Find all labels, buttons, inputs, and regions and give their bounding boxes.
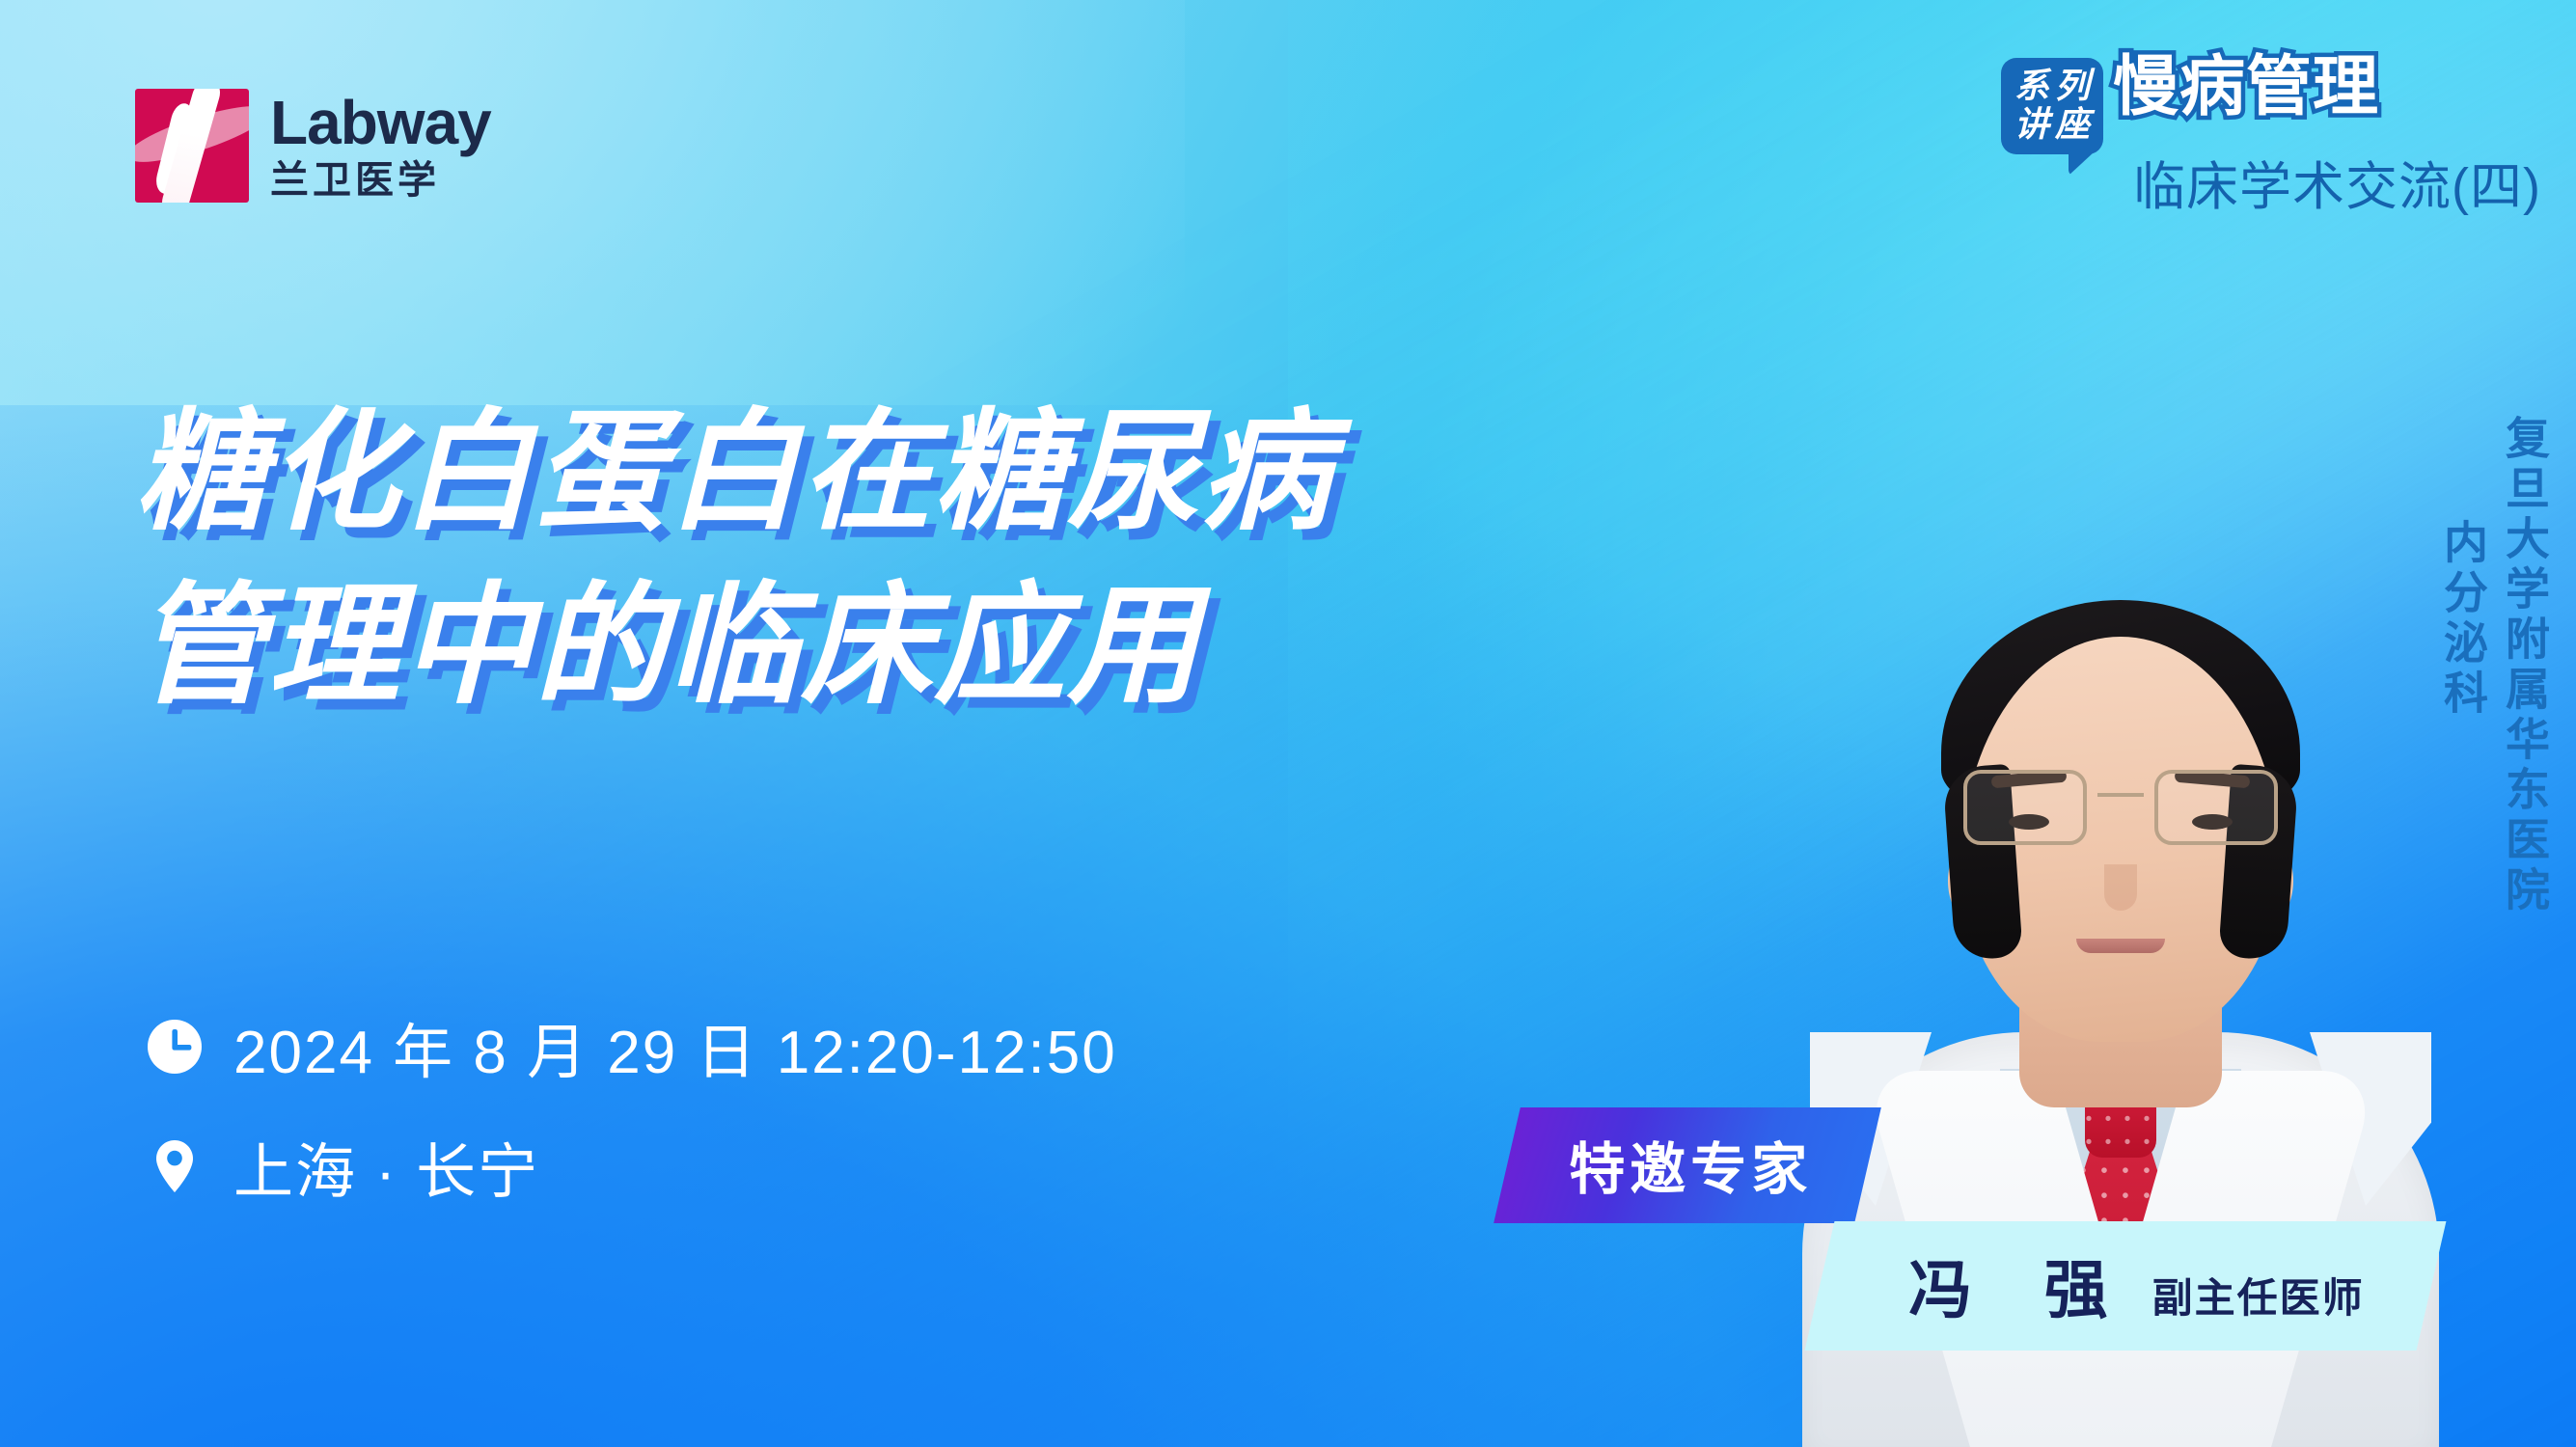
series-tag-grid: 系 列 讲 座 bbox=[2014, 68, 2090, 143]
glasses-lens-right bbox=[2154, 770, 2278, 845]
event-location-row: 上海 · 长宁 bbox=[145, 1123, 1117, 1210]
event-location: 上海 · 长宁 bbox=[233, 1123, 539, 1210]
portrait-mouth bbox=[2076, 939, 2165, 953]
glasses-icon bbox=[1961, 764, 2280, 857]
event-datetime: 2024 年 8 月 29 日 12:20-12:50 bbox=[233, 1003, 1117, 1090]
series-main-title: 慢病管理 bbox=[2113, 50, 2379, 120]
portrait-nose bbox=[2104, 864, 2137, 911]
map-pin-icon bbox=[145, 1136, 205, 1196]
glasses-lens-left bbox=[1963, 770, 2087, 845]
speaker-affiliation: 复旦大学附属华东医院 bbox=[2503, 415, 2547, 916]
series-tag-char-3: 讲 bbox=[2014, 106, 2049, 143]
series-tag-char-1: 系 bbox=[2014, 68, 2049, 104]
speaker-name-inner: 冯 强 副主任医师 bbox=[1908, 1239, 2364, 1331]
brand-logo-text: Labway 兰卫医学 bbox=[270, 92, 491, 200]
event-info: 2024 年 8 月 29 日 12:20-12:50 上海 · 长宁 bbox=[145, 1003, 1117, 1242]
speaker-affiliation-block: 内分泌科 复旦大学附属华东医院 bbox=[2441, 415, 2547, 916]
expert-badge: 特邀专家 bbox=[1494, 1107, 1881, 1223]
series-tag: 系 列 讲 座 bbox=[2001, 58, 2103, 154]
expert-badge-label: 特邀专家 bbox=[1569, 1124, 1812, 1205]
series-tag-char-4: 座 bbox=[2055, 106, 2090, 143]
speaker-job-title: 副主任医师 bbox=[2152, 1266, 2365, 1324]
speaker-department: 内分泌科 bbox=[2441, 519, 2485, 916]
brand-name-en: Labway bbox=[270, 92, 491, 153]
title-line-2: 管理中的临床应用 bbox=[135, 560, 1333, 733]
promo-poster: Labway 兰卫医学 系 列 讲 座 慢病管理 临床学术交流(四) 糖化白蛋白… bbox=[0, 0, 2576, 1447]
brand-name-cn: 兰卫医学 bbox=[270, 161, 491, 200]
poster-title: 糖化白蛋白在糖尿病 管理中的临床应用 bbox=[135, 386, 1333, 732]
brand-logo: Labway 兰卫医学 bbox=[135, 89, 491, 203]
clock-icon bbox=[145, 1017, 205, 1077]
glasses-bridge bbox=[2097, 793, 2144, 797]
event-datetime-row: 2024 年 8 月 29 日 12:20-12:50 bbox=[145, 1003, 1117, 1090]
series-badge: 系 列 讲 座 慢病管理 临床学术交流(四) bbox=[2001, 50, 2541, 216]
series-tag-char-2: 列 bbox=[2055, 68, 2090, 104]
speaker-name-bar: 冯 强 副主任医师 bbox=[1805, 1221, 2447, 1351]
speaker-name: 冯 强 bbox=[1908, 1239, 2134, 1331]
title-line-1: 糖化白蛋白在糖尿病 bbox=[135, 386, 1333, 560]
series-badge-row: 系 列 讲 座 慢病管理 bbox=[2001, 50, 2541, 154]
labway-logo-icon bbox=[135, 89, 249, 203]
